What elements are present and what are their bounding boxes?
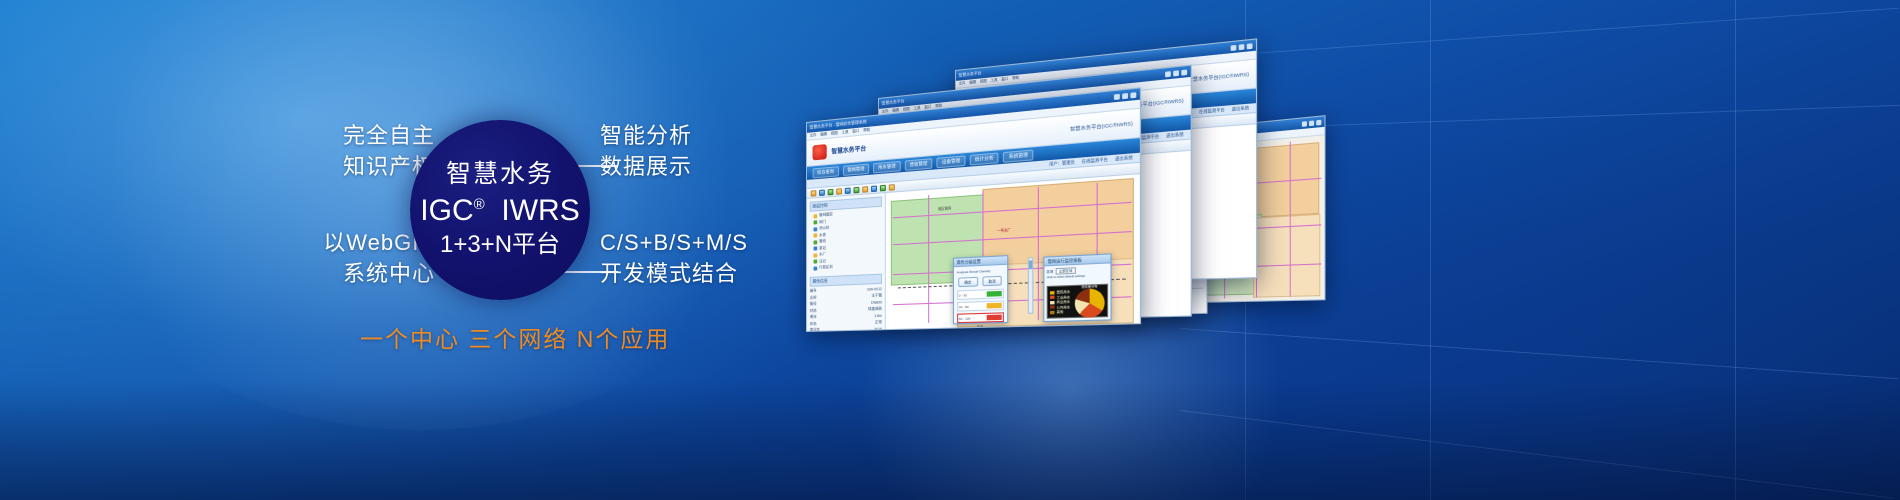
- pan-icon[interactable]: [880, 184, 886, 191]
- menu-item[interactable]: 工具: [991, 78, 998, 84]
- badge-platform: 1+3+N平台: [440, 231, 560, 260]
- layer-swatch-icon: [813, 259, 817, 263]
- color-swatch: [986, 303, 1001, 309]
- nav-item[interactable]: 系统管理: [1003, 149, 1033, 162]
- attribute-key: 材质: [810, 308, 817, 313]
- feature-bottom-right: C/S+B/S+M/S 开发模式结合: [600, 227, 748, 289]
- attribute-key: 名称: [810, 295, 817, 300]
- legend-entry: 其他: [1050, 309, 1070, 314]
- classify-value: 30 - 60: [959, 304, 969, 309]
- tree-item-label: 管网图层: [819, 212, 833, 218]
- tree-item-label: 水表: [819, 232, 826, 237]
- menu-item[interactable]: 文件: [959, 81, 966, 87]
- attribute-key: 管径: [810, 302, 817, 307]
- minimize-icon: [1231, 44, 1237, 50]
- nav-item[interactable]: 营收管理: [905, 158, 933, 171]
- minimize-icon: [1165, 71, 1171, 77]
- menu-item[interactable]: 帮助: [1012, 76, 1019, 82]
- tree-item-label: 阀门: [819, 219, 826, 224]
- banner-stage: 完全自主 知识产权 以WebGIS 系统中心 智能分析 数据展示 C/S+B/S…: [0, 0, 1900, 500]
- attribute-key: 建设年: [810, 328, 820, 331]
- layer-swatch-icon: [813, 240, 817, 244]
- grid-line-horizontal: [1180, 8, 1898, 59]
- attribute-value: 球墨铸铁: [868, 306, 882, 312]
- slider-handle: [1029, 260, 1032, 269]
- layer-swatch-icon: [813, 220, 817, 224]
- attribute-value: 主干管: [871, 293, 882, 299]
- color-swatch: [986, 315, 1001, 321]
- grid-line-horizontal: [1180, 328, 1898, 379]
- classify-value: 60 - 100: [959, 316, 971, 321]
- report-icon[interactable]: [889, 184, 895, 191]
- menu-item[interactable]: 视图: [980, 79, 987, 85]
- open-icon[interactable]: [811, 190, 817, 196]
- layer-swatch-icon: [813, 214, 817, 218]
- tree-item-label: 泵站: [819, 245, 826, 250]
- tree-item-label: 行政区划: [819, 265, 833, 271]
- subnav-item[interactable]: 在线监测平台: [1082, 157, 1108, 165]
- menu-item[interactable]: 帮助: [863, 128, 870, 134]
- window-controls[interactable]: [1231, 43, 1253, 51]
- close-icon: [1316, 119, 1321, 125]
- brand-title: 智慧水务平台: [831, 143, 866, 155]
- classify-value: 0 - 30: [959, 293, 967, 298]
- save-icon[interactable]: [819, 189, 825, 195]
- nav-item[interactable]: 统计分析: [970, 152, 999, 165]
- region-select[interactable]: 全部区域: [1055, 267, 1075, 274]
- badge-brand: IGC: [420, 194, 473, 227]
- brand-right-title: 智慧水务平台(IGC®IWRS): [1188, 71, 1249, 83]
- zoom-icon[interactable]: [836, 188, 842, 195]
- attribute-row: 状态正常: [810, 319, 882, 326]
- close-icon: [1130, 92, 1136, 98]
- menu-item[interactable]: 编辑: [969, 80, 976, 86]
- menu-item[interactable]: 文件: [810, 133, 817, 139]
- subnav-item[interactable]: 用户：管理员: [1049, 160, 1075, 168]
- feature-top-right-line1: 智能分析: [600, 120, 692, 151]
- attribute-row: 建设年2015: [810, 326, 882, 331]
- color-swatch: [986, 291, 1001, 297]
- feature-bottom-right-line1: C/S+B/S+M/S: [600, 227, 748, 258]
- close-icon: [1181, 69, 1187, 75]
- nav-item[interactable]: 管网管理: [843, 163, 870, 175]
- legend-label: 其他: [1057, 310, 1064, 315]
- identify-icon[interactable]: [871, 185, 877, 192]
- pie-chart-panel: 居民用水 工业用水 商业用水 公共用水 其他 用水量分布: [1046, 283, 1107, 319]
- layer-swatch-icon: [813, 253, 817, 257]
- attribute-panel-title: 属性信息: [810, 274, 882, 287]
- maximize-icon: [1173, 70, 1179, 76]
- floor-shadow: [0, 380, 1900, 500]
- close-icon: [1247, 43, 1253, 49]
- attribute-value: 1.8m: [874, 313, 882, 317]
- classify-row[interactable]: 30 - 60: [957, 300, 1004, 311]
- feature-bottom-left-line2: 系统中心: [280, 258, 435, 289]
- window-controls[interactable]: [1165, 69, 1187, 77]
- maximize-icon: [1122, 92, 1128, 98]
- pie-chart: [1075, 288, 1105, 318]
- feature-top-left-line1: 完全自主: [305, 120, 435, 151]
- menu-item[interactable]: 视图: [831, 131, 838, 137]
- back-window-title: 智慧水务平台: [959, 70, 982, 78]
- map-label: 一号水厂: [997, 226, 1011, 232]
- map-road: [928, 195, 929, 322]
- layer-swatch-icon: [813, 246, 817, 250]
- map-region-tan: [982, 178, 1134, 267]
- product-badge: 智慧水务 IGC® IWRS 1+3+N平台: [410, 120, 590, 300]
- minimize-icon: [1114, 93, 1120, 99]
- maximize-icon: [1239, 44, 1245, 50]
- tree-item-label: 管线: [819, 239, 826, 244]
- classify-dialog[interactable]: 属性分级设置 Analysis Result Classify 确定 取消 0 …: [953, 255, 1008, 325]
- middle-window-title: 智慧水务平台: [882, 98, 905, 106]
- map-canvas[interactable]: 城区管网 一号水厂 二号泵站 开发区 属性分级设置 Analysis Resul…: [886, 174, 1140, 329]
- classify-row[interactable]: 0 - 30: [957, 289, 1004, 300]
- grid-line-vertical: [1430, 0, 1431, 500]
- layer-control-panel[interactable]: 图层控制 管网图层 阀门 消火栓 水表 管线 泵站 水厂 注记 行政区划 属性信…: [807, 193, 886, 331]
- maximize-icon: [1309, 120, 1314, 126]
- grid-line-horizontal: [1180, 410, 1895, 499]
- classify-footer[interactable]: 应用: [957, 324, 1004, 329]
- badge-brand-line: IGC® IWRS: [420, 194, 579, 229]
- layer-swatch-icon: [813, 227, 817, 231]
- cancel-button[interactable]: 取消: [982, 276, 1002, 286]
- company-logo-icon: [813, 144, 827, 160]
- attribute-key: 编号: [810, 289, 817, 294]
- minimize-icon: [1302, 121, 1307, 127]
- query-icon[interactable]: [854, 186, 860, 193]
- nav-item[interactable]: 综合查询: [813, 166, 839, 178]
- layer-swatch-icon: [813, 266, 817, 270]
- tagline: 一个中心 三个网络 N个应用: [360, 320, 670, 354]
- nav-item[interactable]: 用水管理: [873, 160, 900, 173]
- classify-dialog-buttons[interactable]: 确定 取消: [957, 276, 1004, 287]
- region-label: 区域: [1046, 269, 1053, 274]
- badge-chinese-title: 智慧水务: [446, 161, 554, 189]
- tree-item-label: 水厂: [819, 252, 826, 257]
- tree-item-label: 注记: [819, 258, 826, 263]
- subnav-item[interactable]: 退出系统: [1232, 105, 1249, 112]
- layer-icon[interactable]: [845, 187, 851, 194]
- tree-item-label: 消火栓: [819, 226, 829, 232]
- grid-line-vertical: [1735, 0, 1736, 500]
- measure-icon[interactable]: [862, 186, 868, 193]
- feature-top-left: 完全自主 知识产权: [305, 120, 435, 182]
- menu-item[interactable]: 编辑: [820, 132, 827, 138]
- nav-item[interactable]: 设备管理: [937, 155, 966, 168]
- subnav-item[interactable]: 在线监测平台: [1199, 107, 1225, 115]
- classify-dialog-body: Analysis Result Classify 确定 取消 0 - 30 30…: [954, 265, 1007, 329]
- registered-mark-icon: ®: [474, 196, 485, 213]
- attribute-value: GW-0012: [867, 286, 882, 291]
- attribute-key: 埋深: [810, 315, 817, 320]
- map-road: [1038, 187, 1039, 319]
- map-label: 城区管网: [938, 205, 951, 211]
- feature-cluster: 完全自主 知识产权 以WebGIS 系统中心 智能分析 数据展示 C/S+B/S…: [270, 105, 790, 315]
- window-controls[interactable]: [1114, 92, 1136, 100]
- menu-item[interactable]: 窗口: [852, 129, 859, 135]
- subnav-item[interactable]: 退出系统: [1166, 132, 1184, 139]
- attribute-key: 状态: [810, 321, 817, 326]
- attribute-value: DN800: [871, 300, 882, 304]
- confirm-button[interactable]: 确定: [958, 277, 978, 287]
- classify-row[interactable]: 60 - 100: [957, 312, 1004, 323]
- menu-item[interactable]: 窗口: [1001, 77, 1008, 83]
- attribute-value: 2015: [874, 327, 882, 331]
- brand-right-title: 智慧水务平台(IGC®IWRS): [1070, 120, 1133, 132]
- menu-item[interactable]: 工具: [842, 130, 849, 136]
- monitor-dialog-body: 区域 全部区域 Click to select default settings…: [1044, 263, 1110, 282]
- zoom-slider[interactable]: [1028, 257, 1034, 315]
- front-window-body: 图层控制 管网图层 阀门 消火栓 水表 管线 泵站 水厂 注记 行政区划 属性信…: [807, 174, 1140, 331]
- layer-swatch-icon: [813, 233, 817, 237]
- badge-product: IWRS: [501, 194, 579, 227]
- feature-top-right: 智能分析 数据展示: [600, 120, 692, 182]
- classify-dialog-subtitle: Analysis Result Classify: [957, 268, 1004, 274]
- feature-bottom-right-line2: 开发模式结合: [600, 258, 748, 289]
- attribute-value: 正常: [875, 319, 882, 324]
- feature-bottom-left: 以WebGIS 系统中心: [280, 227, 435, 289]
- subnav-item[interactable]: 退出系统: [1115, 155, 1133, 162]
- monitor-dialog[interactable]: 管网运行监控面板 区域 全部区域 Click to select default…: [1043, 253, 1111, 323]
- screenshot-front-window[interactable]: 智慧水务平台 - 管网综合管理系统 文件 编辑 视图 工具 窗口 帮助 智慧水务…: [806, 87, 1141, 332]
- map-road: [1290, 142, 1291, 297]
- print-icon[interactable]: [828, 188, 834, 194]
- window-controls[interactable]: [1302, 119, 1321, 126]
